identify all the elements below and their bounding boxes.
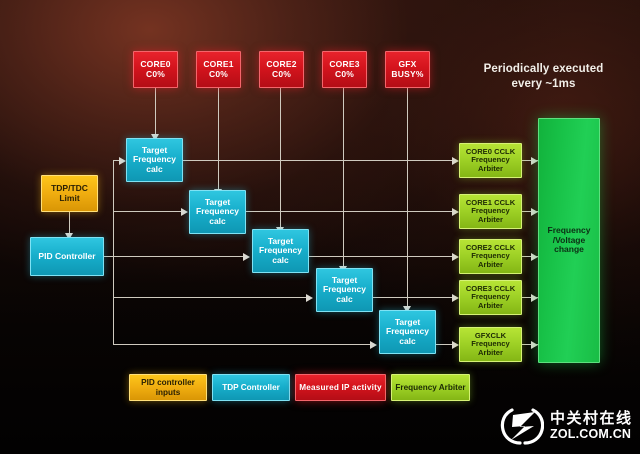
arrow-arbiter3-to-output (531, 294, 538, 302)
input-core1-line2: C0% (197, 70, 240, 80)
legend-measured-ip-activity[interactable]: Measured IP activity (295, 374, 386, 401)
arbiter-core0-line3: Arbiter (460, 165, 521, 174)
legend-pid-line2: inputs (156, 388, 181, 397)
arbiter-core3-cclk[interactable]: CORE3 CCLK Frequency Arbiter (459, 280, 522, 315)
input-core3-line2: C0% (323, 70, 366, 80)
watermark-cn: 中关村在线 (550, 411, 633, 426)
wire-core3-stem (343, 88, 344, 270)
legend-tdp-line1: TDP Controller (222, 383, 280, 392)
input-gfx[interactable]: GFX BUSY% (385, 51, 430, 88)
legend-frequency-arbiter[interactable]: Frequency Arbiter (391, 374, 470, 401)
legend-tdp-controller[interactable]: TDP Controller (212, 374, 290, 401)
target-frequency-calc-4[interactable]: Target Frequency calc (316, 268, 373, 312)
wire-pid-branch-5 (113, 344, 373, 345)
zol-logo-icon (500, 406, 544, 446)
legend-pid-line1: PID controller (141, 378, 195, 387)
legend-pid-controller-inputs[interactable]: PID controller inputs (129, 374, 207, 401)
input-core2-line2: C0% (260, 70, 303, 80)
wire-pid-bus (113, 160, 114, 345)
watermark-en: ZOL.COM.CN (550, 428, 633, 441)
input-core2[interactable]: CORE2 C0% (259, 51, 304, 88)
input-core1[interactable]: CORE1 C0% (196, 51, 241, 88)
periodic-note-line2: every ~1ms (456, 77, 631, 92)
legend-measured-line1: Measured IP activity (299, 383, 382, 392)
target-frequency-calc-3[interactable]: Target Frequency calc (252, 229, 309, 273)
wire-pid-branch-2 (113, 211, 184, 212)
calc-2-line3: calc (190, 217, 245, 227)
wire-pid-branch-3 (113, 256, 246, 257)
arrow-arbiter1-to-output (531, 208, 538, 216)
calc-1-line3: calc (127, 165, 182, 175)
arrow-into-arbiter-core1 (452, 208, 459, 216)
wire-calc2-to-arbiter1 (246, 211, 457, 212)
pid-controller-label: PID Controller (31, 252, 103, 262)
arbiter-core2-line3: Arbiter (460, 261, 521, 270)
arrow-pid-into-calc-3 (243, 253, 250, 261)
tdp-tdc-limit[interactable]: TDP/TDC Limit (41, 175, 98, 212)
diagram-canvas: CORE0 C0% CORE1 C0% CORE2 C0% CORE3 C0% … (0, 0, 640, 454)
input-core0-line2: C0% (134, 70, 177, 80)
input-core0[interactable]: CORE0 C0% (133, 51, 178, 88)
arrow-arbiter-gfx-to-output (531, 341, 538, 349)
arrow-pid-into-calc-5 (370, 341, 377, 349)
arbiter-core2-cclk[interactable]: CORE2 CCLK Frequency Arbiter (459, 239, 522, 274)
wire-pid-branch-4 (113, 297, 309, 298)
arbiter-core1-cclk[interactable]: CORE1 CCLK Frequency Arbiter (459, 194, 522, 229)
calc-5-line3: calc (380, 337, 435, 347)
output-line3: change (539, 245, 599, 255)
calc-3-line3: calc (253, 256, 308, 266)
arrow-arbiter0-to-output (531, 157, 538, 165)
arbiter-core0-cclk[interactable]: CORE0 CCLK Frequency Arbiter (459, 143, 522, 178)
wire-gfx-stem (407, 88, 408, 310)
pid-controller[interactable]: PID Controller (30, 237, 104, 276)
arbiter-core3-line3: Arbiter (460, 302, 521, 311)
arrow-into-arbiter-core2 (452, 253, 459, 261)
arbiter-gfxclk[interactable]: GFXCLK Frequency Arbiter (459, 327, 522, 362)
wire-calc1-to-arbiter0 (183, 160, 457, 161)
periodic-note: Periodically executed every ~1ms (456, 62, 631, 92)
target-frequency-calc-5[interactable]: Target Frequency calc (379, 310, 436, 354)
calc-4-line3: calc (317, 295, 372, 305)
wire-calc4-to-arbiter3 (373, 297, 457, 298)
arrow-arbiter2-to-output (531, 253, 538, 261)
arrow-into-arbiter-core0 (452, 157, 459, 165)
arrow-pid-into-calc-2 (181, 208, 188, 216)
input-core3[interactable]: CORE3 C0% (322, 51, 367, 88)
frequency-voltage-change[interactable]: Frequency /Voltage change (538, 118, 600, 363)
arbiter-gfx-line3: Arbiter (460, 349, 521, 358)
legend-arbiter-line1: Frequency Arbiter (395, 383, 465, 392)
arrow-into-arbiter-core3 (452, 294, 459, 302)
periodic-note-line1: Periodically executed (456, 62, 631, 77)
wire-core0-stem (155, 88, 156, 138)
watermark-text: 中关村在线 ZOL.COM.CN (550, 411, 633, 441)
wire-core1-stem (218, 88, 219, 193)
target-frequency-calc-2[interactable]: Target Frequency calc (189, 190, 246, 234)
watermark: 中关村在线 ZOL.COM.CN (500, 405, 636, 447)
target-frequency-calc-1[interactable]: Target Frequency calc (126, 138, 183, 182)
input-gfx-line2: BUSY% (386, 70, 429, 80)
arrow-into-arbiter-gfx (452, 341, 459, 349)
arrow-pid-into-calc-1 (119, 157, 126, 165)
tdp-tdc-limit-line2: Limit (42, 194, 97, 204)
wire-calc3-to-arbiter2 (309, 256, 457, 257)
arbiter-core1-line3: Arbiter (460, 216, 521, 225)
arrow-pid-into-calc-4 (306, 294, 313, 302)
